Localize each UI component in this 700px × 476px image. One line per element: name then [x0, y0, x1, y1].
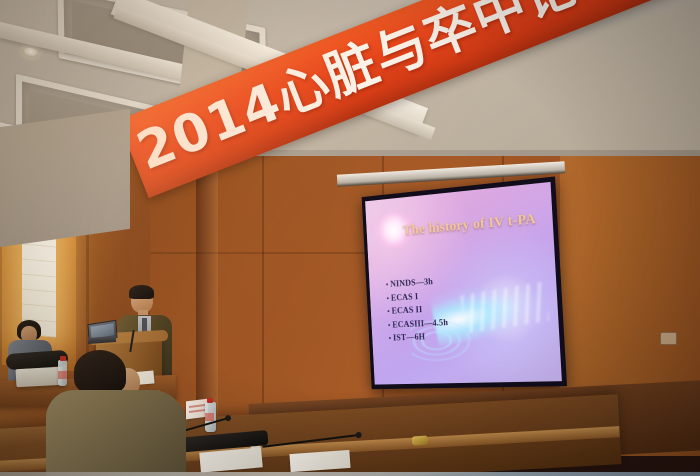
attendee-foreground — [52, 350, 184, 476]
projection-screen: The history of IV t-PA NINDS—3h ECAS I E… — [362, 176, 567, 389]
image-bottom-edge — [0, 472, 700, 476]
small-gold-object — [412, 435, 429, 445]
conference-room-photo: 2014心脏与卒中论坛暨疑难病例讨论会 The history of IV t-… — [0, 0, 700, 476]
water-bottle — [205, 402, 216, 432]
wall-above-left — [0, 109, 130, 247]
slide-title: The history of IV t-PA — [403, 209, 556, 239]
presentation-slide: The history of IV t-PA NINDS—3h ECAS I E… — [365, 182, 562, 385]
slide-bullet-list: NINDS—3h ECAS I ECAS II ECASIII—4.5h IST… — [386, 270, 521, 346]
ceiling-spotlight-icon — [21, 46, 39, 58]
wall-outlet-icon — [660, 332, 677, 345]
